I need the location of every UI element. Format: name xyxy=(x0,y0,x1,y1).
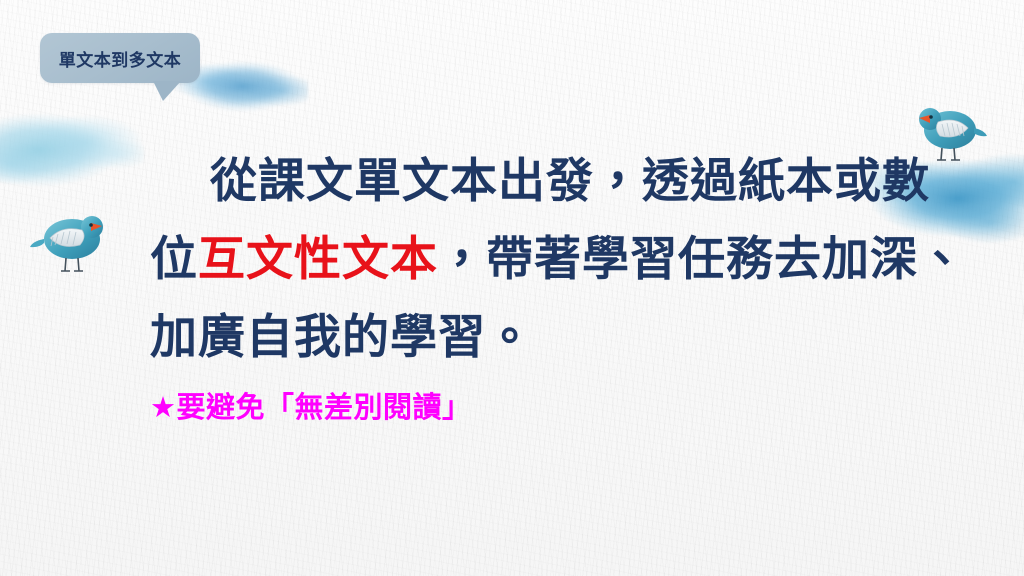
slide-canvas: 單文本到多文本 xyxy=(0,0,1024,576)
body-line-1-text: 從課文單文本出發，透過紙本或數 xyxy=(210,154,930,207)
body-line-2-highlight: 互文性文本 xyxy=(198,232,438,285)
body-line-2-after: ，帶著學習任務去加深、 xyxy=(438,232,966,285)
body-line-2-before: 位 xyxy=(150,232,198,285)
body-line-3-text: 加廣自我的學習。 xyxy=(150,310,534,363)
body-line-1: 從課文單文本出發，透過紙本或數 xyxy=(150,142,950,220)
bird-icon-left xyxy=(28,205,116,281)
slide-body-text: 從課文單文本出發，透過紙本或數 位互文性文本，帶著學習任務去加深、 加廣自我的學… xyxy=(150,142,950,376)
warning-note: ★要避免「無差別閱讀」 xyxy=(150,384,472,426)
body-line-2: 位互文性文本，帶著學習任務去加深、 xyxy=(150,220,950,298)
body-line-3: 加廣自我的學習。 xyxy=(150,298,950,376)
watercolor-cloud-left xyxy=(0,104,144,200)
speech-bubble: 單文本到多文本 xyxy=(40,33,200,83)
speech-bubble-label: 單文本到多文本 xyxy=(40,33,200,83)
speech-bubble-tail xyxy=(153,81,181,101)
